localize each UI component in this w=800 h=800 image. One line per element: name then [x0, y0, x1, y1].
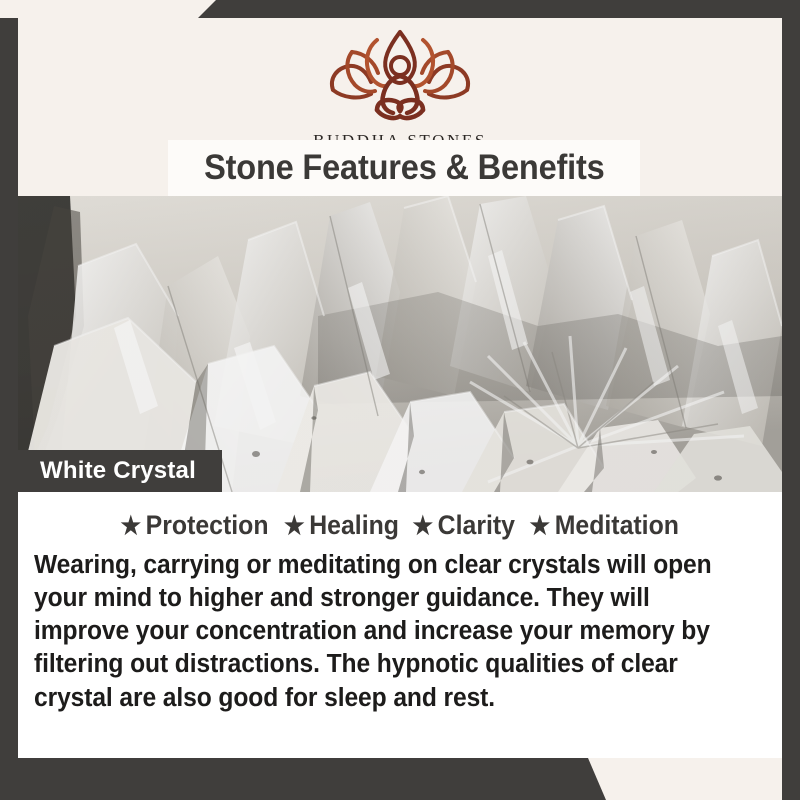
frame-left-accent: [0, 18, 18, 800]
star-icon: ★: [284, 514, 305, 539]
frame-right-accent: [782, 18, 800, 800]
star-icon: ★: [530, 514, 551, 539]
frame-bottom-accent: [0, 758, 800, 800]
stone-name-tag: White Crystal: [18, 450, 222, 492]
stone-name-label: White Crystal: [40, 457, 196, 485]
benefit-label: Meditation: [555, 510, 679, 541]
benefit-label: Protection: [146, 510, 269, 541]
content-panel: ★ Protection ★ Healing ★ Clarity ★ Medit…: [18, 492, 782, 758]
star-icon: ★: [412, 514, 433, 539]
white-crystal-cluster-photo: [18, 196, 782, 492]
benefit-item: ★ Clarity: [412, 510, 515, 541]
title-banner: Stone Features & Benefits: [168, 140, 640, 196]
lotus-meditation-figure-icon: [18, 28, 782, 128]
star-icon: ★: [121, 514, 142, 539]
benefit-item: ★ Protection: [121, 510, 269, 541]
page-title: Stone Features & Benefits: [204, 148, 605, 188]
brand-logo: BUDDHA STONES: [18, 28, 782, 151]
benefit-label: Clarity: [438, 510, 515, 541]
benefit-label: Healing: [309, 510, 399, 541]
benefit-item: ★ Healing: [284, 510, 399, 541]
frame-top-accent: [0, 0, 800, 18]
benefit-item: ★ Meditation: [530, 510, 679, 541]
stone-benefits-poster: BUDDHA STONES Stone Features & Benefits: [0, 0, 800, 800]
stone-description: Wearing, carrying or meditating on clear…: [34, 549, 740, 715]
benefits-list: ★ Protection ★ Healing ★ Clarity ★ Medit…: [32, 510, 768, 541]
